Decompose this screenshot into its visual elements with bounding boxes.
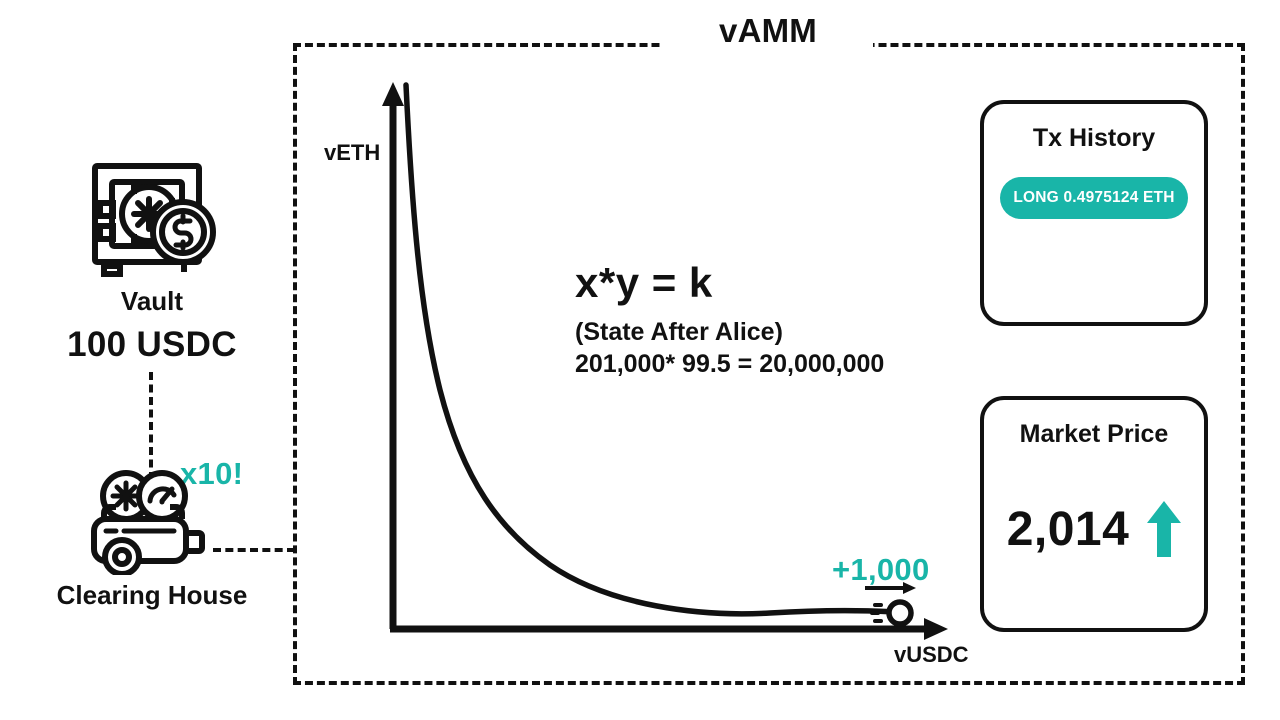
equation-block: x*y = k (State After Alice) 201,000* 99.… — [575, 258, 975, 380]
vault-label: Vault — [28, 286, 276, 317]
clearing-house-group: Clearing House — [28, 466, 276, 611]
x-axis-label: vUSDC — [894, 642, 969, 668]
tx-history-entry[interactable]: LONG 0.4975124 ETH — [1000, 177, 1188, 219]
trade-point-marker — [889, 602, 911, 624]
clearing-house-machine-icon — [28, 466, 276, 576]
delta-label: +1,000 — [832, 552, 929, 588]
y-axis-label: vETH — [324, 140, 380, 166]
diagram-canvas: vAMM — [0, 0, 1280, 720]
market-price-value: 2,014 — [1007, 502, 1130, 557]
price-up-arrow-icon — [1147, 501, 1181, 557]
market-price-title: Market Price — [984, 420, 1204, 449]
vault-amount: 100 USDC — [28, 325, 276, 365]
connector-vault-to-clearing-house — [149, 372, 153, 480]
tx-history-title: Tx History — [984, 124, 1204, 153]
x-axis-arrowhead — [924, 618, 948, 640]
y-axis-arrowhead — [382, 82, 404, 106]
vault-group: Vault 100 USDC — [28, 158, 276, 365]
equation-state-caption: (State After Alice) — [575, 316, 975, 348]
clearing-house-label: Clearing House — [28, 580, 276, 611]
marker-motion-ticks — [872, 605, 881, 621]
equation-formula: x*y = k — [575, 258, 975, 308]
market-price-card: Market Price 2,014 — [980, 396, 1208, 632]
market-price-row: 2,014 — [984, 501, 1204, 557]
tx-history-card: Tx History LONG 0.4975124 ETH — [980, 100, 1208, 326]
equation-calculation: 201,000* 99.5 = 20,000,000 — [575, 348, 975, 380]
vamm-title: vAMM — [663, 8, 873, 54]
vault-safe-icon — [28, 158, 276, 280]
